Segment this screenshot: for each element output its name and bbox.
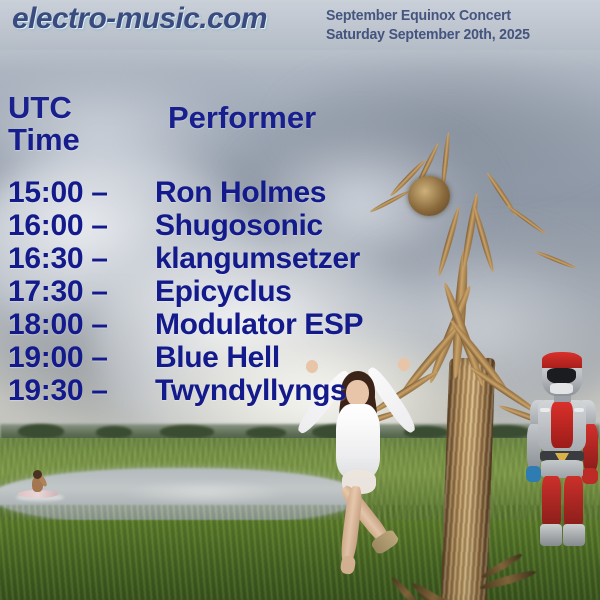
- schedule-performer: Epicyclus: [155, 275, 291, 309]
- schedule-row: 19:00 –Blue Hell: [0, 341, 600, 374]
- robot-stripe: [540, 408, 550, 412]
- distant-bush: [246, 427, 286, 438]
- robot-right-leg: [564, 476, 583, 530]
- robot-left-boot: [540, 524, 562, 546]
- schedule-row: 16:00 –Shugosonic: [0, 209, 600, 242]
- schedule-row: 18:00 –Modulator ESP: [0, 308, 600, 341]
- schedule-performer: klangumsetzer: [155, 242, 360, 276]
- concert-poster: electro-music.com September Equinox Conc…: [0, 0, 600, 600]
- schedule-row: 17:30 –Epicyclus: [0, 275, 600, 308]
- schedule-performer: Shugosonic: [155, 209, 323, 243]
- paddleboarder-figure: [18, 467, 60, 499]
- column-header-time: UTC Time: [8, 92, 80, 156]
- column-header-time-line2: Time: [8, 124, 80, 156]
- schedule-time: 19:30 –: [8, 374, 153, 408]
- robot-right-boot: [563, 524, 585, 546]
- dancer-torso: [336, 404, 380, 478]
- distant-bush: [18, 424, 64, 438]
- schedule-time: 19:00 –: [8, 341, 153, 375]
- robot-right-glove: [582, 468, 598, 484]
- schedule-time: 17:30 –: [8, 275, 153, 309]
- column-header-performer: Performer: [168, 100, 316, 136]
- schedule-performer: Twyndyllyngs: [155, 374, 346, 408]
- robot-chest-accent: [551, 402, 573, 448]
- schedule-row: 15:00 –Ron Holmes: [0, 176, 600, 209]
- pond-reflection: [120, 480, 290, 506]
- robot-stripe: [574, 408, 584, 412]
- event-date: Saturday September 20th, 2025: [326, 25, 530, 44]
- site-logo[interactable]: electro-music.com: [12, 2, 267, 36]
- event-heading: September Equinox Concert Saturday Septe…: [326, 6, 530, 44]
- schedule-performer: Ron Holmes: [155, 176, 326, 210]
- schedule-time: 16:00 –: [8, 209, 153, 243]
- schedule-performer: Modulator ESP: [155, 308, 363, 342]
- dancer-left-foot: [340, 555, 357, 575]
- schedule-time: 18:00 –: [8, 308, 153, 342]
- schedule-row: 19:30 –Twyndyllyngs: [0, 374, 600, 407]
- robot-left-leg: [542, 476, 561, 530]
- schedule-list: 15:00 –Ron Holmes16:00 –Shugosonic16:30 …: [0, 176, 600, 407]
- distant-bush: [160, 425, 214, 438]
- schedule-row: 16:30 –klangumsetzer: [0, 242, 600, 275]
- distant-bush: [96, 426, 132, 438]
- event-title: September Equinox Concert: [326, 6, 530, 25]
- header-bar: electro-music.com September Equinox Conc…: [0, 0, 600, 50]
- schedule-time: 15:00 –: [8, 176, 153, 210]
- paddler-head: [33, 470, 42, 479]
- robot-left-glove: [526, 466, 541, 482]
- schedule-performer: Blue Hell: [155, 341, 280, 375]
- column-header-time-line1: UTC: [8, 92, 80, 124]
- schedule-time: 16:30 –: [8, 242, 153, 276]
